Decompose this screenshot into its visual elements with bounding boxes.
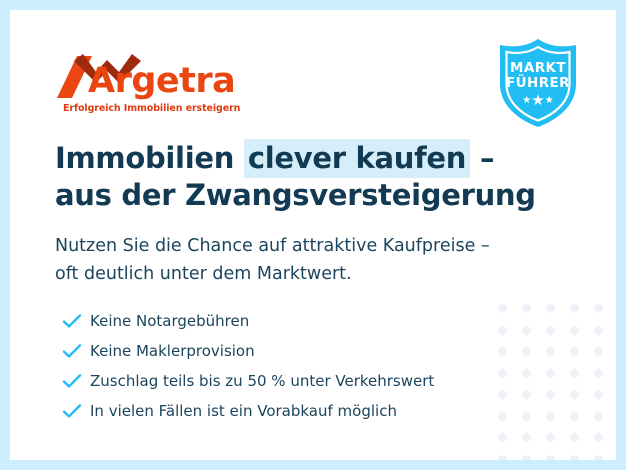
star-icon: ★ (531, 92, 544, 109)
decorative-dot (522, 369, 531, 378)
decorative-dot (498, 390, 507, 399)
badge-line-2: FÜHRER (495, 75, 581, 91)
list-item-label: Keine Maklerprovision (90, 342, 255, 360)
decorative-dot (546, 455, 555, 460)
decorative-dot (594, 347, 603, 356)
market-leader-badge: MARKT FÜHRER ★★★ (495, 38, 581, 128)
list-item-label: Keine Notargebühren (90, 312, 249, 330)
banner-card: Argetra Erfolgreich Immobilien ersteiger… (10, 10, 616, 460)
decorative-dot (546, 390, 555, 399)
decorative-dot (522, 347, 531, 356)
decorative-dot (594, 304, 603, 313)
star-icon: ★ (522, 95, 531, 106)
decorative-dot (498, 455, 507, 460)
check-icon (62, 400, 90, 422)
promo-banner: Argetra Erfolgreich Immobilien ersteiger… (0, 0, 626, 470)
decorative-dot (570, 390, 579, 399)
decorative-dot (570, 412, 579, 421)
headline-line-1: Immobilien clever kaufen – (55, 140, 555, 177)
list-item-label: Zuschlag teils bis zu 50 % unter Verkehr… (90, 372, 434, 390)
decorative-dot (570, 326, 579, 335)
decorative-dot (546, 347, 555, 356)
list-item: Keine Notargebühren (62, 306, 492, 336)
decorative-dot (594, 433, 603, 442)
decorative-dot (546, 412, 555, 421)
decorative-dot (570, 304, 579, 313)
list-item: Keine Maklerprovision (62, 336, 492, 366)
check-icon (62, 340, 90, 362)
decorative-dot (594, 412, 603, 421)
decorative-dot (498, 433, 507, 442)
logo-tagline: Erfolgreich Immobilien ersteigern (63, 103, 240, 114)
decorative-dot (498, 412, 507, 421)
decorative-dot (570, 433, 579, 442)
star-icon: ★ (545, 95, 554, 106)
subtitle-line-2: oft deutlich unter dem Marktwert. (55, 260, 555, 288)
decorative-dot (522, 433, 531, 442)
list-item-label: In vielen Fällen ist ein Vorabkauf mögli… (90, 402, 397, 420)
decorative-dot (522, 304, 531, 313)
decorative-dot (498, 326, 507, 335)
decorative-dot (546, 326, 555, 335)
decorative-dot (546, 304, 555, 313)
argetra-logo: Argetra Erfolgreich Immobilien ersteiger… (55, 52, 255, 114)
decorative-dot (546, 369, 555, 378)
decorative-dot (522, 326, 531, 335)
decorative-dot (498, 369, 507, 378)
decorative-dot (594, 390, 603, 399)
decorative-dot (594, 455, 603, 460)
list-item: Zuschlag teils bis zu 50 % unter Verkehr… (62, 366, 492, 396)
badge-line-1: MARKT (495, 60, 581, 76)
badge-stars: ★★★ (495, 93, 581, 108)
logo-wordmark: Argetra (88, 64, 235, 99)
headline-line-2: aus der Zwangsversteigerung (55, 177, 555, 214)
headline-highlight: clever kaufen (244, 139, 470, 178)
decorative-dot (522, 390, 531, 399)
decorative-dot (546, 433, 555, 442)
decorative-dot (522, 455, 531, 460)
decorative-dot (570, 455, 579, 460)
headline-pre: Immobilien (55, 141, 244, 175)
headline-post: – (470, 141, 494, 175)
decorative-dot-grid (490, 298, 616, 460)
decorative-dot (498, 304, 507, 313)
decorative-dot (570, 347, 579, 356)
decorative-dot (522, 412, 531, 421)
page-title: Immobilien clever kaufen – aus der Zwang… (55, 140, 555, 214)
check-icon (62, 370, 90, 392)
list-item: In vielen Fällen ist ein Vorabkauf mögli… (62, 396, 492, 426)
check-icon (62, 310, 90, 332)
benefit-list: Keine NotargebührenKeine Maklerprovision… (62, 306, 492, 426)
subtitle-line-1: Nutzen Sie die Chance auf attraktive Kau… (55, 232, 555, 260)
decorative-dot (594, 326, 603, 335)
decorative-dot (594, 369, 603, 378)
decorative-dot (570, 369, 579, 378)
subtitle: Nutzen Sie die Chance auf attraktive Kau… (55, 232, 555, 289)
decorative-dot (498, 347, 507, 356)
